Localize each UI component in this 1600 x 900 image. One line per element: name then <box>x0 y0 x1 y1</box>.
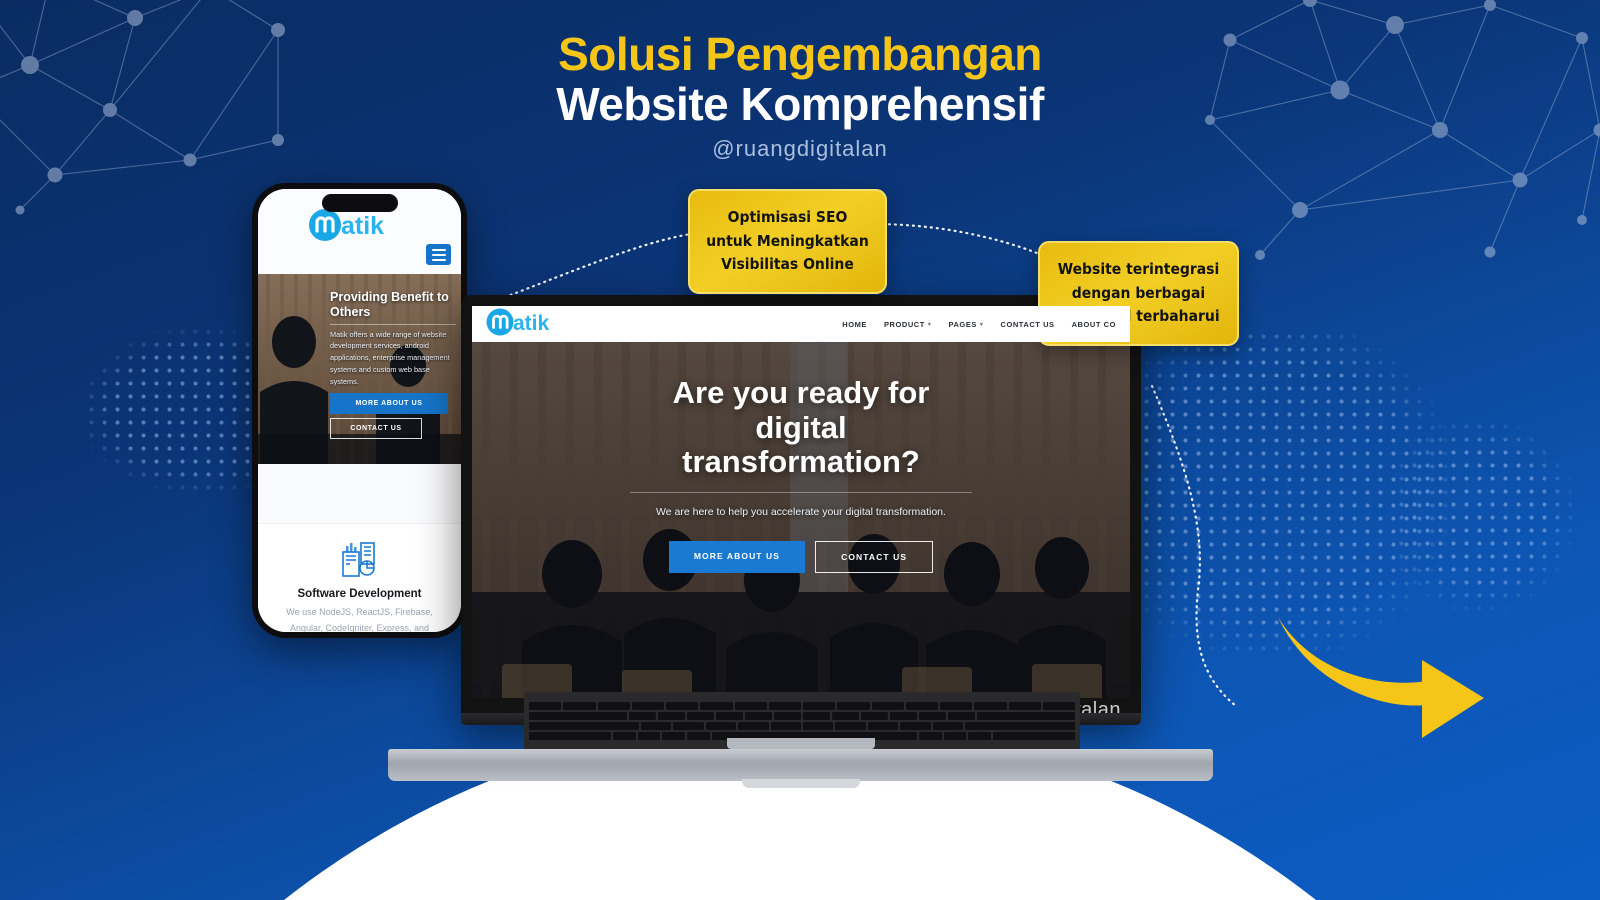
nav-item-product[interactable]: PRODUCT▾ <box>884 320 932 329</box>
nav-item-about-company-label: ABOUT CO <box>1072 320 1116 329</box>
laptop-lid: atik HOME PRODUCT▾ PAGES▾ CONTACT US ABO… <box>461 295 1141 720</box>
matik-logo-icon: atik <box>486 308 574 336</box>
laptop-more-about-us-button[interactable]: MORE ABOUT US <box>669 541 805 573</box>
nav-item-home[interactable]: HOME <box>842 320 867 329</box>
laptop-base-lip <box>742 779 860 788</box>
keyboard-row <box>529 722 1075 730</box>
keyboard-row <box>529 702 1075 710</box>
laptop-brand-logo[interactable]: atik <box>486 308 574 341</box>
laptop-hero-title-line-2: digital <box>755 410 846 445</box>
nav-item-contact-us-label: CONTACT US <box>1000 320 1054 329</box>
laptop-hero-title-line-3: transformation? <box>682 444 920 479</box>
phone-notch <box>322 194 398 212</box>
callout-seo: Optimisasi SEO untuk Meningkatkan Visibi… <box>688 189 887 294</box>
laptop-mockup: atik HOME PRODUCT▾ PAGES▾ CONTACT US ABO… <box>388 295 1213 815</box>
social-handle: @ruangdigitalan <box>0 136 1600 162</box>
laptop-base <box>388 749 1213 781</box>
nav-item-pages[interactable]: PAGES▾ <box>948 320 983 329</box>
laptop-hero-title-line-1: Are you ready for <box>673 375 930 410</box>
laptop-screen: atik HOME PRODUCT▾ PAGES▾ CONTACT US ABO… <box>472 306 1130 698</box>
curved-right-arrow-icon <box>1272 612 1487 742</box>
laptop-hero-title: Are you ready for digital transformation… <box>582 376 1020 480</box>
svg-text:atik: atik <box>341 212 384 240</box>
nav-item-product-label: PRODUCT <box>884 320 925 329</box>
dotted-world-map-east-lower <box>1395 420 1600 630</box>
poster-canvas: Solusi Pengembangan Website Komprehensif… <box>0 0 1600 900</box>
keyboard-row <box>529 712 1075 720</box>
laptop-contact-us-button[interactable]: CONTACT US <box>815 541 933 573</box>
chevron-down-icon: ▾ <box>928 321 932 328</box>
software-development-icon <box>340 540 380 578</box>
phone-brand-logo[interactable]: atik <box>308 208 412 247</box>
nav-item-home-label: HOME <box>842 320 867 329</box>
nav-item-contact-us[interactable]: CONTACT US <box>1000 320 1054 329</box>
laptop-hero-section: Are you ready for digital transformation… <box>472 342 1130 698</box>
chevron-down-icon: ▾ <box>980 321 984 328</box>
nav-item-about-company[interactable]: ABOUT CO <box>1072 320 1116 329</box>
phone-hamburger-menu-icon[interactable] <box>426 244 451 265</box>
laptop-hero-copy: Are you ready for digital transformation… <box>472 376 1130 573</box>
laptop-trackpad[interactable] <box>727 738 875 749</box>
svg-text:atik: atik <box>513 312 550 335</box>
nav-item-pages-label: PAGES <box>948 320 976 329</box>
laptop-hero-divider <box>630 492 972 493</box>
laptop-hero-subtitle: We are here to help you accelerate your … <box>582 503 1020 521</box>
poster-headline: Solusi Pengembangan Website Komprehensif… <box>0 30 1600 162</box>
headline-line-1: Solusi Pengembangan <box>0 30 1600 80</box>
headline-line-2: Website Komprehensif <box>0 80 1600 130</box>
laptop-hero-buttons: MORE ABOUT US CONTACT US <box>582 541 1020 573</box>
matik-logo-icon: atik <box>308 208 412 242</box>
nav-links: HOME PRODUCT▾ PAGES▾ CONTACT US ABOUT CO <box>842 320 1116 329</box>
site-navigation-bar: atik HOME PRODUCT▾ PAGES▾ CONTACT US ABO… <box>472 306 1130 342</box>
